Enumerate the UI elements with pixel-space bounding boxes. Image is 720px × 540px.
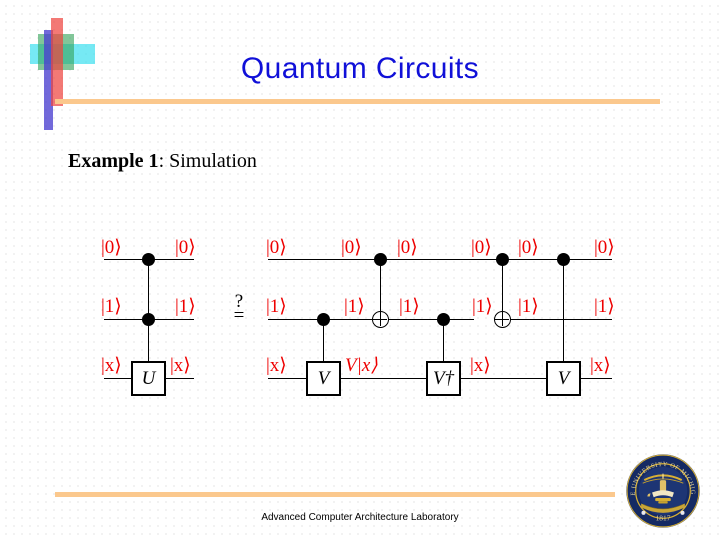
left-circuit-control-dot-wire2 bbox=[142, 313, 155, 326]
right-ket-wire3-mid2: |x⟩ bbox=[470, 356, 491, 375]
left-in-ket-wire1: |0⟩ bbox=[101, 238, 122, 257]
right-circuit-wire-3a bbox=[268, 378, 306, 379]
right-ket-wire2-mid2: |1⟩ bbox=[399, 297, 420, 316]
right-ket-wire1-in: |0⟩ bbox=[266, 238, 287, 257]
footer-label: Advanced Computer Architecture Laborator… bbox=[0, 512, 720, 523]
left-out-ket-wire3: |x⟩ bbox=[170, 356, 191, 375]
left-out-ket-wire1: |0⟩ bbox=[175, 238, 196, 257]
gate-u[interactable]: U bbox=[131, 361, 166, 396]
right-circuit-wire-2b bbox=[388, 319, 474, 320]
slide-root: Quantum Circuits Example 1: Simulation U… bbox=[0, 0, 720, 540]
gate-v-last[interactable]: V bbox=[546, 361, 581, 396]
footer-divider-rule bbox=[55, 492, 615, 497]
left-out-ket-wire2: |1⟩ bbox=[175, 297, 196, 316]
cnot-target-step2[interactable] bbox=[372, 311, 389, 328]
left-in-ket-wire2: |1⟩ bbox=[101, 297, 122, 316]
university-seal-icon: THE UNIVERSITY OF MICHIGAN 1817 bbox=[624, 452, 702, 530]
right-ket-wire1-mid4: |0⟩ bbox=[518, 238, 539, 257]
right-ket-wire2-out: |1⟩ bbox=[594, 297, 615, 316]
equivalence-relation-symbol: ? = bbox=[226, 293, 252, 325]
right-circuit-control-dot-step1 bbox=[317, 313, 330, 326]
left-in-ket-wire3: |x⟩ bbox=[101, 356, 122, 375]
right-circuit-control-dot-step3 bbox=[437, 313, 450, 326]
right-ket-wire3-mid1: V|x⟩ bbox=[345, 356, 378, 375]
right-ket-wire1-out: |0⟩ bbox=[594, 238, 615, 257]
right-ket-wire2-in: |1⟩ bbox=[266, 297, 287, 316]
right-ket-wire1-mid1: |0⟩ bbox=[341, 238, 362, 257]
equals-glyph: = bbox=[226, 307, 252, 325]
right-circuit-control-dot-step4 bbox=[496, 253, 509, 266]
right-ket-wire2-mid4: |1⟩ bbox=[518, 297, 539, 316]
right-circuit-wire-3c bbox=[461, 378, 546, 379]
right-circuit-link-step4 bbox=[502, 259, 503, 311]
right-circuit-control-dot-step2 bbox=[374, 253, 387, 266]
right-ket-wire2-mid3: |1⟩ bbox=[472, 297, 493, 316]
right-circuit-wire-2c bbox=[510, 319, 612, 320]
right-circuit-control-dot-step5 bbox=[557, 253, 570, 266]
left-circuit-wire-3b bbox=[166, 378, 194, 379]
right-circuit-link-step5 bbox=[563, 259, 564, 361]
right-ket-wire3-out: |x⟩ bbox=[590, 356, 611, 375]
right-circuit-wire-3d bbox=[581, 378, 612, 379]
quantum-circuit-diagram: U |0⟩ |0⟩ |1⟩ |1⟩ |x⟩ |x⟩ ? = V bbox=[0, 0, 720, 540]
gate-v-dagger[interactable]: V† bbox=[426, 361, 461, 396]
left-circuit-wire-3a bbox=[104, 378, 131, 379]
cnot-target-step4[interactable] bbox=[494, 311, 511, 328]
right-ket-wire3-in: |x⟩ bbox=[266, 356, 287, 375]
right-circuit-link-step2 bbox=[380, 259, 381, 311]
right-ket-wire1-mid3: |0⟩ bbox=[471, 238, 492, 257]
gate-v-first[interactable]: V bbox=[306, 361, 341, 396]
right-ket-wire1-mid2: |0⟩ bbox=[397, 238, 418, 257]
left-circuit-control-dot-wire1 bbox=[142, 253, 155, 266]
left-circuit-control-link bbox=[148, 259, 149, 361]
svg-text:1817: 1817 bbox=[656, 514, 671, 523]
right-ket-wire2-mid1: |1⟩ bbox=[344, 297, 365, 316]
right-circuit-wire-3b bbox=[341, 378, 426, 379]
